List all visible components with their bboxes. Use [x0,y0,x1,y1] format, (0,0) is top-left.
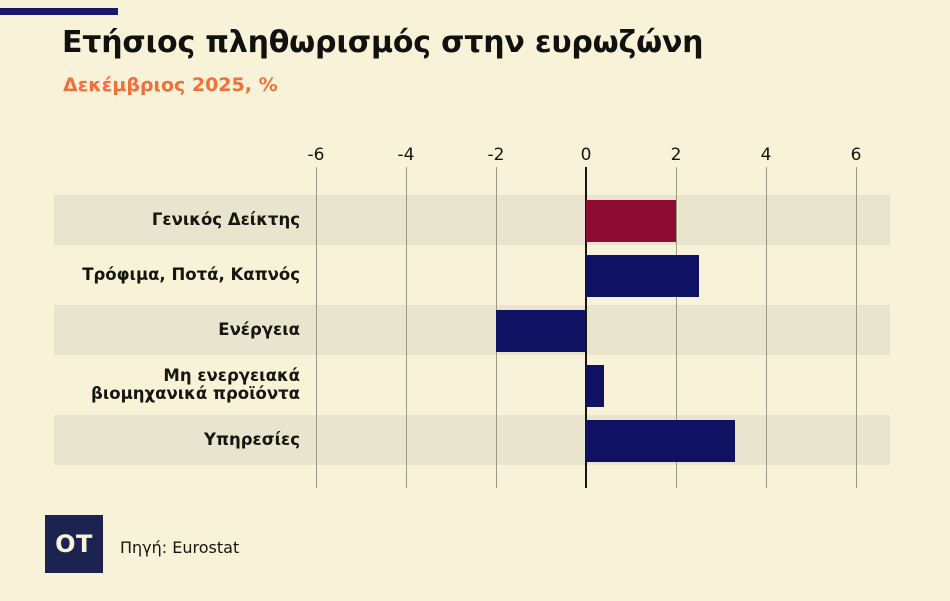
bar [586,255,699,297]
chart-page: Ετήσιος πληθωρισμός στην ευρωζώνη Δεκέμβ… [0,0,950,601]
ot-logo: OT [45,515,103,573]
gridline [406,167,407,488]
category-label-row: Υπηρεσίες [54,415,310,465]
x-axis-tick-label: -2 [488,145,505,165]
bar [586,200,676,242]
category-label: Υπηρεσίες [204,431,310,449]
category-label: Μη ενεργειακά βιομηχανικά προϊόντα [91,367,310,404]
gridline [766,167,767,488]
bar [586,365,604,407]
category-label: Ενέργεια [218,321,310,339]
gridline [316,167,317,488]
x-axis-tick-label: 4 [761,145,772,165]
category-label-row: Γενικός Δείκτης [54,195,310,245]
source-note: Πηγή: Eurostat [120,538,239,557]
category-label-row: Τρόφιμα, Ποτά, Καπνός [54,250,310,300]
bar [586,420,735,462]
category-label: Τρόφιμα, Ποτά, Καπνός [82,266,310,284]
ot-logo-text: OT [55,530,93,558]
x-axis-tick-label: -6 [308,145,325,165]
x-axis-tick-label: 2 [671,145,682,165]
x-axis-tick-label: 0 [581,145,592,165]
category-label: Γενικός Δείκτης [152,211,310,229]
x-axis-tick-label: 6 [851,145,862,165]
gridline [856,167,857,488]
bar [496,310,586,352]
category-label-row: Ενέργεια [54,305,310,355]
x-axis-tick-label: -4 [398,145,415,165]
category-label-row: Μη ενεργειακά βιομηχανικά προϊόντα [54,360,310,410]
bar-chart-plot: -6-4-20246Γενικός ΔείκτηςΤρόφιμα, Ποτά, … [0,0,950,601]
